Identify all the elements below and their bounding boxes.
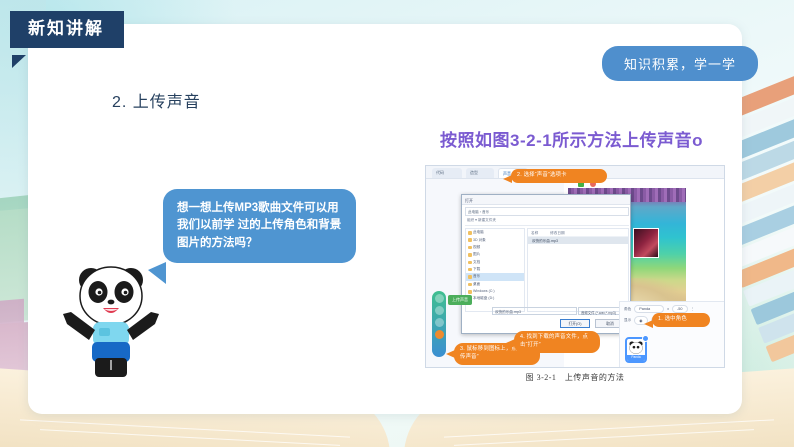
callout-pointer — [446, 350, 455, 358]
file-name: 欢快的乐曲.mp3 — [532, 239, 558, 243]
column-name: 名称 — [531, 231, 538, 235]
sprite-thumbnail[interactable]: Panda — [625, 337, 647, 363]
tab-costume[interactable]: 造型 — [466, 168, 494, 178]
filename-input[interactable]: 欢快的乐曲.mp3 — [492, 307, 577, 315]
dialog-file-list[interactable]: 名称 修改日期 欢快的乐曲.mp3 — [527, 228, 629, 312]
tree-item[interactable]: 3D 对象 — [466, 236, 524, 243]
record-icon[interactable] — [435, 318, 444, 327]
page-title: 2. 上传声音 — [112, 88, 201, 112]
sprite-menu-icon[interactable]: ⋮ — [691, 307, 695, 311]
sprite-name-row: 角色 Panda x -50 ⋮ — [620, 302, 724, 313]
section-tab: 新知讲解 — [10, 11, 124, 48]
costume-photo-thumb — [633, 228, 659, 258]
upload-sound-icon[interactable] — [435, 330, 444, 339]
sprite-x-input[interactable]: -50 — [672, 305, 688, 313]
surprise-icon[interactable] — [435, 306, 444, 315]
sound-library-icon[interactable] — [435, 294, 444, 303]
instruction-line: 按照如图3-2-1所示方法上传声音o — [440, 126, 703, 151]
sprite-x-label: x — [667, 307, 669, 311]
sprite-name-label: 角色 — [624, 307, 631, 312]
column-date: 修改日期 — [550, 231, 564, 235]
sprite-thumb-name: Panda — [627, 355, 645, 361]
sprite-delete-badge-icon[interactable] — [642, 335, 649, 342]
dialog-path-bar[interactable]: 此电脑 › 音乐 — [465, 207, 629, 216]
dialog-title: 打开 — [462, 195, 630, 205]
sound-add-rail[interactable] — [432, 291, 446, 357]
sprite-name-input[interactable]: Panda — [634, 305, 664, 313]
callout-select-sprite: 1. 选中角色 — [652, 313, 710, 327]
sprite-show-label: 显示 — [624, 318, 631, 323]
callout-text: 1. 选中角色 — [658, 316, 687, 322]
file-list-row[interactable]: 欢快的乐曲.mp3 — [528, 237, 628, 244]
open-button[interactable]: 打开(O) — [560, 319, 590, 328]
tutorial-screenshot: 代码 造型 声音 打开 此电脑 › 音乐 — [425, 165, 725, 368]
callout-pointer — [644, 320, 653, 328]
upload-sound-tooltip: 上传声音 — [448, 295, 472, 305]
figure-caption: 图 3-2-1 上传声音的方法 — [425, 372, 725, 383]
dialog-folder-tree[interactable]: 此电脑 3D 对象 视频 图片 文档 下载 音乐 桌面 Windows (C:)… — [465, 228, 525, 312]
callout-text: 4. 找到下载的声音文件，点击“打开” — [520, 334, 588, 348]
callout-text: 2. 选择“声音”选项卡 — [517, 172, 567, 178]
section-tab-tail — [12, 55, 26, 68]
tree-item[interactable]: 下载 — [466, 266, 524, 273]
tree-item[interactable]: 桌面 — [466, 281, 524, 288]
file-open-dialog: 打开 此电脑 › 音乐 组织 ▾ 新建文件夹 此电脑 3D 对象 视频 图片 文… — [461, 194, 631, 334]
tree-item[interactable]: 视频 — [466, 244, 524, 251]
callout-pointer — [503, 175, 512, 183]
tree-item[interactable]: 图片 — [466, 251, 524, 258]
tree-item-selected[interactable]: 音乐 — [466, 273, 524, 280]
tab-code[interactable]: 代码 — [432, 168, 462, 178]
tree-item[interactable]: 本地磁盘 (D:) — [466, 294, 524, 301]
callout-select-sound-tab: 2. 选择“声音”选项卡 — [511, 169, 607, 183]
speech-bubble: 想一想上传MP3歌曲文件可以用我们以前学 过的上传角色和背景图片的方法吗？ — [163, 189, 356, 263]
tree-item[interactable]: 文档 — [466, 259, 524, 266]
knowledge-pill: 知识积累，学一学 — [602, 46, 758, 81]
callout-pointer — [506, 339, 515, 347]
sprite-panel: 角色 Panda x -50 ⋮ 显示 ◉ ◎ 大小 100 方向 — [619, 301, 724, 367]
dialog-toolbar[interactable]: 组织 ▾ 新建文件夹 — [465, 218, 629, 226]
slide-root: 新知讲解 知识积累，学一学 2. 上传声音 按照如图3-2-1所示方法上传声音o… — [0, 0, 794, 447]
callout-open-file: 4. 找到下载的声音文件，点击“打开” — [514, 331, 600, 353]
panda-mascot — [55, 252, 167, 384]
file-list-header: 名称 修改日期 — [528, 229, 628, 237]
tree-item[interactable]: 此电脑 — [466, 229, 524, 236]
